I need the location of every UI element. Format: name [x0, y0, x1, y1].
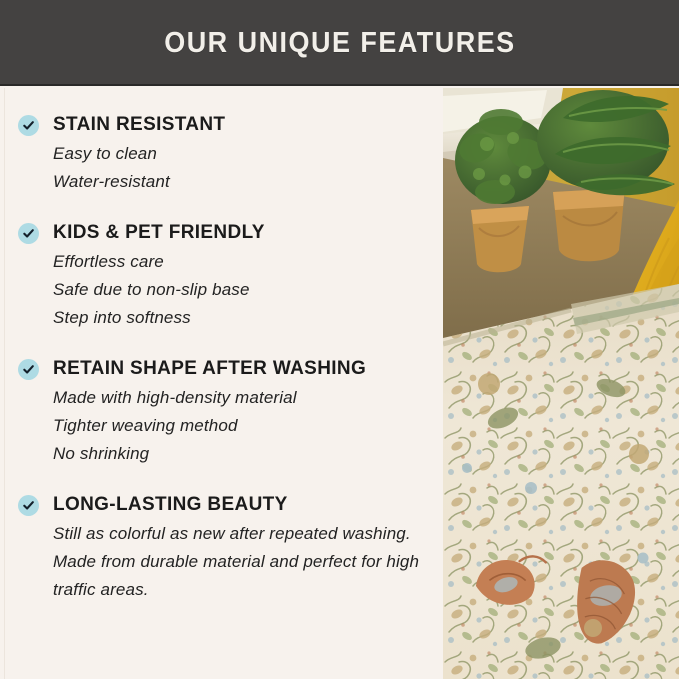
- feature-detail-line: Safe due to non-slip base: [53, 276, 433, 304]
- feature-detail-line: No shrinking: [53, 440, 433, 468]
- check-circle-icon: [18, 495, 39, 516]
- feature-detail-list: Made with high-density material Tighter …: [53, 384, 433, 468]
- check-circle-icon: [18, 359, 39, 380]
- feature-detail-list: Still as colorful as new after repeated …: [53, 520, 433, 604]
- feature-detail-line: Water-resistant: [53, 168, 433, 196]
- feature-title: LONG-LASTING BEAUTY: [53, 494, 433, 516]
- area-rug: [443, 284, 679, 679]
- feature-detail-line: Made with high-density material: [53, 384, 433, 412]
- feature-item: KIDS & PET FRIENDLY Effortless care Safe…: [18, 222, 433, 332]
- unique-features-infographic: OUR UNIQUE FEATURES STAIN RESISTANT Easy…: [0, 0, 679, 679]
- content-body: STAIN RESISTANT Easy to clean Water-resi…: [0, 88, 679, 679]
- check-circle-icon: [18, 115, 39, 136]
- check-circle-icon: [18, 223, 39, 244]
- feature-item: LONG-LASTING BEAUTY Still as colorful as…: [18, 494, 433, 604]
- feature-item: RETAIN SHAPE AFTER WASHING Made with hig…: [18, 358, 433, 468]
- plant-pot-right: [553, 188, 625, 261]
- plant-pot-left: [471, 206, 529, 272]
- feature-item: STAIN RESISTANT Easy to clean Water-resi…: [18, 114, 433, 196]
- feature-detail-line: Easy to clean: [53, 140, 433, 168]
- feature-detail-line: Step into softness: [53, 304, 433, 332]
- product-photo: [443, 88, 679, 679]
- feature-title: STAIN RESISTANT: [53, 114, 433, 136]
- feature-detail-list: Effortless care Safe due to non-slip bas…: [53, 248, 433, 332]
- feature-detail-line: Still as colorful as new after repeated …: [53, 520, 433, 604]
- feature-title: RETAIN SHAPE AFTER WASHING: [53, 358, 433, 380]
- feature-detail-list: Easy to clean Water-resistant: [53, 140, 433, 196]
- feature-detail-line: Tighter weaving method: [53, 412, 433, 440]
- feature-detail-line: Effortless care: [53, 248, 433, 276]
- page-title: OUR UNIQUE FEATURES: [164, 27, 515, 60]
- panel-left-edge: [4, 88, 5, 679]
- features-panel: STAIN RESISTANT Easy to clean Water-resi…: [0, 88, 443, 679]
- feature-title: KIDS & PET FRIENDLY: [53, 222, 433, 244]
- header-banner: OUR UNIQUE FEATURES: [0, 0, 679, 86]
